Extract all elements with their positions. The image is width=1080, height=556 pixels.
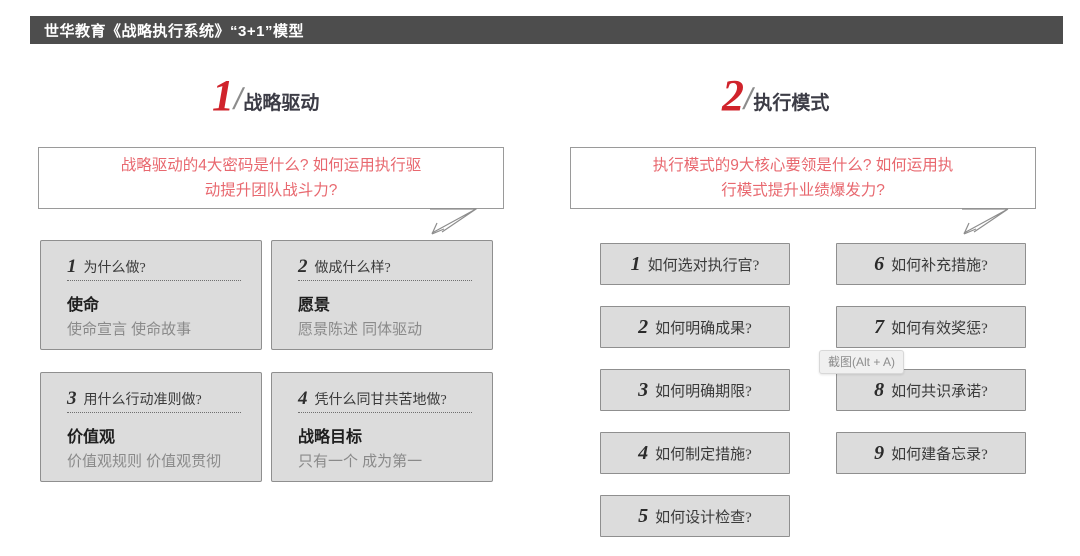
card-number: 2: [298, 257, 308, 276]
card-question: 用什么行动准则做?: [84, 389, 202, 409]
card-subtext: 只有一个 成为第一: [298, 450, 492, 471]
card-question: 为什么做?: [84, 257, 146, 277]
execution-item[interactable]: 9 如何建备忘录?: [836, 432, 1026, 474]
item-number: 2: [638, 317, 648, 337]
section-number-2: 2: [722, 74, 743, 118]
strategy-card[interactable]: 1 为什么做? 使命 使命宣言 使命故事: [40, 240, 262, 350]
card-header: 4 凭什么同甘共苦地做?: [298, 389, 492, 409]
card-divider: [67, 412, 241, 413]
bubble-tail-2: [962, 208, 1024, 236]
card-term: 使命: [67, 291, 261, 315]
card-subtext: 价值观规则 价值观贯彻: [67, 450, 261, 471]
execution-item[interactable]: 4 如何制定措施?: [600, 432, 790, 474]
card-term: 愿景: [298, 291, 492, 315]
item-number: 6: [874, 254, 884, 274]
execution-item[interactable]: 3 如何明确期限?: [600, 369, 790, 411]
execution-item[interactable]: 1 如何选对执行官?: [600, 243, 790, 285]
card-header: 3 用什么行动准则做?: [67, 389, 261, 409]
card-number: 4: [298, 389, 308, 408]
item-number: 4: [638, 443, 648, 463]
item-label: 如何设计检查?: [655, 506, 752, 527]
bubble-tail-1: [430, 208, 492, 236]
card-divider: [67, 280, 241, 281]
question-line: 战略驱动的4大密码是什么? 如何运用执行驱: [121, 153, 422, 178]
screenshot-tooltip: 截图(Alt + A): [819, 350, 904, 374]
execution-item[interactable]: 2 如何明确成果?: [600, 306, 790, 348]
question-bubble-2: 执行模式的9大核心要领是什么? 如何运用执 行模式提升业绩爆发力?: [570, 147, 1036, 209]
card-header: 1 为什么做?: [67, 257, 261, 277]
item-label: 如何选对执行官?: [648, 254, 760, 275]
item-number: 9: [874, 443, 884, 463]
item-number: 1: [631, 254, 641, 274]
card-subtext: 使命宣言 使命故事: [67, 318, 261, 339]
item-label: 如何明确成果?: [655, 317, 752, 338]
item-number: 8: [874, 380, 884, 400]
item-number: 5: [638, 506, 648, 526]
card-divider: [298, 412, 472, 413]
section-number-1: 1: [212, 74, 233, 118]
item-label: 如何有效奖惩?: [891, 317, 988, 338]
card-question: 凭什么同甘共苦地做?: [315, 389, 447, 409]
execution-item[interactable]: 7 如何有效奖惩?: [836, 306, 1026, 348]
execution-item[interactable]: 8 如何共识承诺?: [836, 369, 1026, 411]
card-header: 2 做成什么样?: [298, 257, 492, 277]
question-bubble-1: 战略驱动的4大密码是什么? 如何运用执行驱 动提升团队战斗力?: [38, 147, 504, 209]
strategy-card[interactable]: 2 做成什么样? 愿景 愿景陈述 同体驱动: [271, 240, 493, 350]
strategy-card[interactable]: 4 凭什么同甘共苦地做? 战略目标 只有一个 成为第一: [271, 372, 493, 482]
question-line: 动提升团队战斗力?: [205, 178, 338, 203]
item-label: 如何明确期限?: [655, 380, 752, 401]
card-number: 3: [67, 389, 77, 408]
strategy-card[interactable]: 3 用什么行动准则做? 价值观 价值观规则 价值观贯彻: [40, 372, 262, 482]
card-number: 1: [67, 257, 77, 276]
card-term: 价值观: [67, 423, 261, 447]
item-label: 如何共识承诺?: [891, 380, 988, 401]
card-subtext: 愿景陈述 同体驱动: [298, 318, 492, 339]
card-divider: [298, 280, 472, 281]
question-line: 执行模式的9大核心要领是什么? 如何运用执: [653, 153, 954, 178]
card-question: 做成什么样?: [315, 257, 391, 277]
question-line: 行模式提升业绩爆发力?: [721, 178, 885, 203]
execution-item[interactable]: 5 如何设计检查?: [600, 495, 790, 537]
execution-item[interactable]: 6 如何补充措施?: [836, 243, 1026, 285]
section-heading-1: 1 / 战略驱动: [212, 74, 319, 118]
section-label-1: 战略驱动: [243, 92, 319, 116]
item-label: 如何制定措施?: [655, 443, 752, 464]
item-number: 7: [874, 317, 884, 337]
slide-canvas: 世华教育《战略执行系统》“3+1”模型 1 / 战略驱动 2 / 执行模式 战略…: [0, 0, 1080, 556]
section-label-2: 执行模式: [753, 92, 829, 116]
card-term: 战略目标: [298, 423, 492, 447]
item-number: 3: [638, 380, 648, 400]
item-label: 如何补充措施?: [891, 254, 988, 275]
section-heading-2: 2 / 执行模式: [722, 74, 829, 118]
page-title: 世华教育《战略执行系统》“3+1”模型: [44, 20, 304, 41]
item-label: 如何建备忘录?: [891, 443, 988, 464]
header-bar: 世华教育《战略执行系统》“3+1”模型: [30, 16, 1063, 44]
